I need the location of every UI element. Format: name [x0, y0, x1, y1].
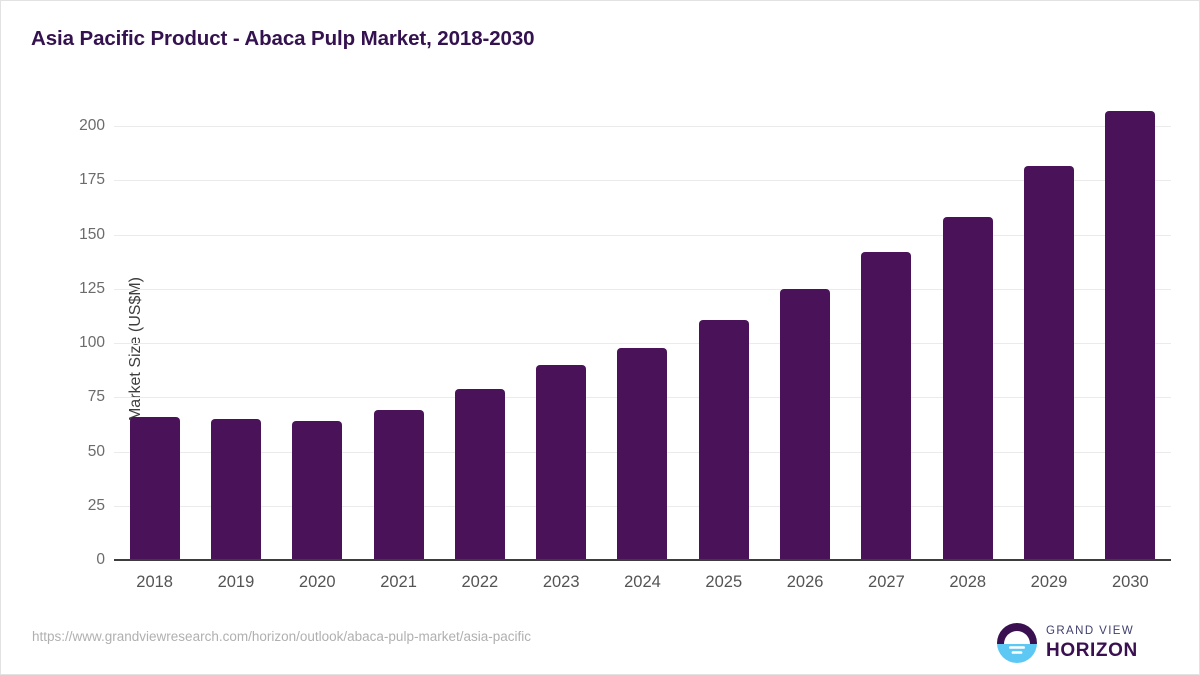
bar[interactable] — [780, 289, 830, 560]
bar[interactable] — [861, 252, 911, 560]
bar-slot — [439, 126, 520, 560]
bar-slot — [1008, 126, 1089, 560]
brand-logo-line1: GRAND VIEW — [1046, 626, 1138, 638]
bar[interactable] — [943, 217, 993, 560]
bar-slot — [195, 126, 276, 560]
x-axis-tick-label: 2018 — [114, 573, 195, 592]
x-axis-tick-labels: 2018201920202021202220232024202520262027… — [114, 573, 1171, 601]
brand-logo-line2: HORIZON — [1046, 641, 1138, 660]
y-axis-tick-label: 75 — [15, 388, 105, 406]
page-title: Asia Pacific Product - Abaca Pulp Market… — [31, 27, 534, 51]
x-axis-tick-label: 2025 — [683, 573, 764, 592]
x-axis-tick-label: 2022 — [439, 573, 520, 592]
y-axis-tick-label: 100 — [15, 334, 105, 352]
bar-slot — [277, 126, 358, 560]
y-axis-tick-label: 25 — [15, 497, 105, 515]
bar[interactable] — [536, 365, 586, 560]
bar[interactable] — [699, 320, 749, 560]
x-axis-tick-label: 2029 — [1008, 573, 1089, 592]
bar-slot — [1090, 126, 1171, 560]
x-axis-tick-label: 2021 — [358, 573, 439, 592]
y-axis-tick-label: 50 — [15, 443, 105, 461]
bar-slot — [846, 126, 927, 560]
bar-slot — [114, 126, 195, 560]
x-axis-tick-label: 2019 — [195, 573, 276, 592]
horizon-sunrise-circle-icon — [996, 622, 1038, 664]
brand-logo-text: GRAND VIEW HORIZON — [1046, 626, 1138, 660]
x-axis-tick-label: 2026 — [764, 573, 845, 592]
bar[interactable] — [130, 417, 180, 560]
y-axis-tick-label: 150 — [15, 226, 105, 244]
bar[interactable] — [292, 421, 342, 560]
bar[interactable] — [374, 410, 424, 560]
bar-slot — [683, 126, 764, 560]
y-axis-tick-labels: 0255075100125150175200 — [1, 1, 105, 675]
x-axis-tick-label: 2030 — [1090, 573, 1171, 592]
brand-logo[interactable]: GRAND VIEW HORIZON — [996, 621, 1166, 665]
y-axis-tick-label: 200 — [15, 117, 105, 135]
x-axis-tick-label: 2028 — [927, 573, 1008, 592]
bar-slot — [521, 126, 602, 560]
bar-slot — [358, 126, 439, 560]
bar[interactable] — [211, 419, 261, 560]
y-axis-tick-label: 175 — [15, 171, 105, 189]
bar[interactable] — [455, 389, 505, 560]
y-axis-tick-label: 0 — [15, 551, 105, 569]
x-axis-line — [114, 559, 1171, 561]
y-axis-tick-label: 125 — [15, 280, 105, 298]
source-url[interactable]: https://www.grandviewresearch.com/horizo… — [32, 629, 531, 644]
bar-slot — [764, 126, 845, 560]
x-axis-tick-label: 2023 — [521, 573, 602, 592]
x-axis-tick-label: 2024 — [602, 573, 683, 592]
x-axis-tick-label: 2020 — [277, 573, 358, 592]
bar-slot — [602, 126, 683, 560]
plot-area — [114, 126, 1171, 560]
chart-canvas: Asia Pacific Product - Abaca Pulp Market… — [0, 0, 1200, 675]
bar[interactable] — [1024, 166, 1074, 560]
bar[interactable] — [1105, 111, 1155, 560]
x-axis-tick-label: 2027 — [846, 573, 927, 592]
bar[interactable] — [617, 348, 667, 560]
bar-slot — [927, 126, 1008, 560]
